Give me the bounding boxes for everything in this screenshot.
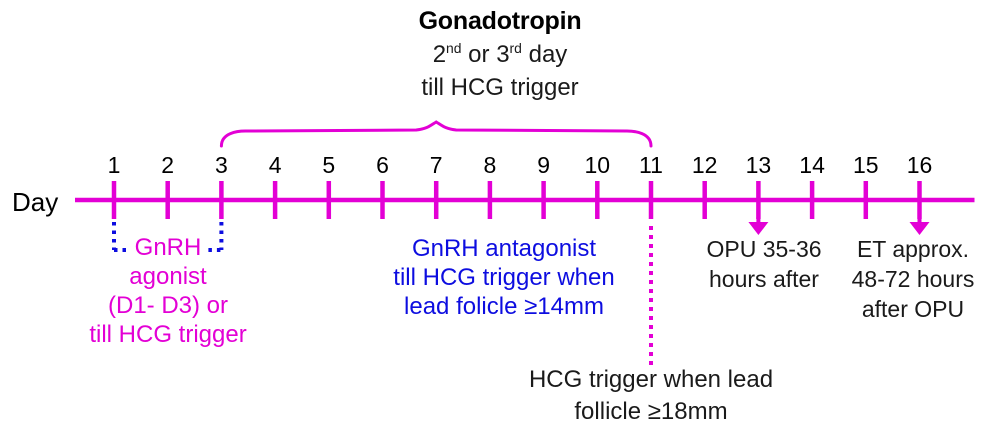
day-number-8: 8 xyxy=(483,152,496,179)
ordinal-suffix-nd: nd xyxy=(446,40,461,56)
gnrh-agonist-line-3: (D1- D3) or xyxy=(89,291,246,320)
day-number-11: 11 xyxy=(639,152,663,179)
day-number-3: 3 xyxy=(215,152,228,179)
gnrh-agonist-line-4: till HCG trigger xyxy=(89,320,246,349)
gonadotropin-title: Gonadotropin xyxy=(0,6,1000,36)
gnrh-antagonist-annotation: GnRH antagonisttill HCG trigger whenlead… xyxy=(393,234,614,321)
et-line-1: ET approx. xyxy=(852,234,975,264)
opu-line-1: OPU 35-36 xyxy=(706,234,821,264)
gonadotropin-brace xyxy=(221,122,651,146)
day-number-10: 10 xyxy=(585,152,611,179)
timeline-figure: Gonadotropin 2nd or 3rd day till HCG tri… xyxy=(0,0,1000,440)
gnrh-antagonist-line-1: GnRH antagonist xyxy=(393,234,614,263)
hcg-trigger-line-2: follicle ≥18mm xyxy=(529,396,773,428)
hcg-trigger-annotation: HCG trigger when leadfollicle ≥18mm xyxy=(529,364,773,428)
gnrh-agonist-line-1: GnRH xyxy=(89,233,246,262)
gnrh-agonist-annotation: GnRHagonist(D1- D3) ortill HCG trigger xyxy=(89,233,246,349)
gnrh-agonist-line-2: agonist xyxy=(89,262,246,291)
gonadotropin-day-line: 2nd or 3rd day xyxy=(0,40,1000,70)
et-annotation: ET approx.48-72 hoursafter OPU xyxy=(852,234,975,324)
day-number-14: 14 xyxy=(799,152,825,179)
hcg-trigger-line-1: HCG trigger when lead xyxy=(529,364,773,396)
day-ordinal-2: 2 xyxy=(433,41,446,68)
day-number-12: 12 xyxy=(692,152,718,179)
et-line-2: 48-72 hours xyxy=(852,264,975,294)
ordinal-suffix-rd: rd xyxy=(510,40,522,56)
day-number-13: 13 xyxy=(746,152,772,179)
et-line-3: after OPU xyxy=(852,294,975,324)
day-number-1: 1 xyxy=(108,152,121,179)
event-arrows xyxy=(748,217,929,235)
header-block: Gonadotropin 2nd or 3rd day till HCG tri… xyxy=(0,6,1000,103)
day-word: day xyxy=(522,41,567,68)
day-conjunction: or 3 xyxy=(462,41,510,68)
gonadotropin-brace-path xyxy=(221,122,651,146)
gonadotropin-duration-line: till HCG trigger xyxy=(0,73,1000,103)
day-number-2: 2 xyxy=(161,152,174,179)
day-number-7: 7 xyxy=(430,152,443,179)
opu-annotation: OPU 35-36hours after xyxy=(706,234,821,294)
axis-label-day: Day xyxy=(12,187,58,218)
day-number-15: 15 xyxy=(853,152,879,179)
day-number-5: 5 xyxy=(322,152,335,179)
day-number-4: 4 xyxy=(269,152,282,179)
opu-line-2: hours after xyxy=(706,264,821,294)
day-number-6: 6 xyxy=(376,152,389,179)
gnrh-antagonist-line-2: till HCG trigger when xyxy=(393,263,614,292)
day-number-16: 16 xyxy=(907,152,933,179)
gnrh-antagonist-line-3: lead folicle ≥14mm xyxy=(393,292,614,321)
axis-group xyxy=(75,181,975,219)
day-number-9: 9 xyxy=(537,152,550,179)
